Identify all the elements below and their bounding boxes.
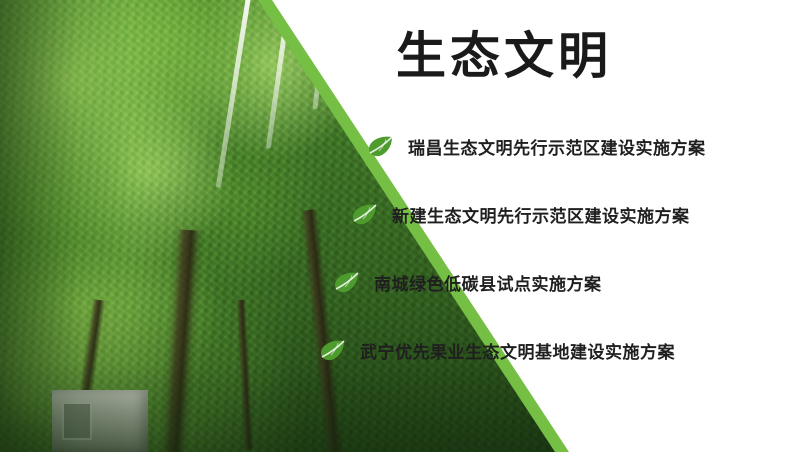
slide-root: 生态文明 瑞昌生态文明先行示范区建设实施方案 新建生态文明先行示范区 [0, 0, 800, 452]
list-item-label: 武宁优先果业生态文明基地建设实施方案 [360, 338, 675, 363]
list-item[interactable]: 瑞昌生态文明先行示范区建设实施方案 [366, 112, 788, 180]
list-item-label: 瑞昌生态文明先行示范区建设实施方案 [408, 134, 706, 159]
list-item[interactable]: 新建生态文明先行示范区建设实施方案 [350, 180, 788, 248]
page-title: 生态文明 [396, 16, 612, 88]
leaf-icon [318, 335, 348, 365]
list-item-label: 南城绿色低碳县试点实施方案 [374, 270, 602, 295]
leaf-icon [366, 131, 396, 161]
list-item[interactable]: 武宁优先果业生态文明基地建设实施方案 [318, 316, 788, 384]
list-item-label: 新建生态文明先行示范区建设实施方案 [392, 202, 690, 227]
list-item[interactable]: 南城绿色低碳县试点实施方案 [332, 248, 788, 316]
leaf-icon [350, 199, 380, 229]
leaf-icon [332, 267, 362, 297]
bullet-list: 瑞昌生态文明先行示范区建设实施方案 新建生态文明先行示范区建设实施方案 [318, 112, 788, 384]
